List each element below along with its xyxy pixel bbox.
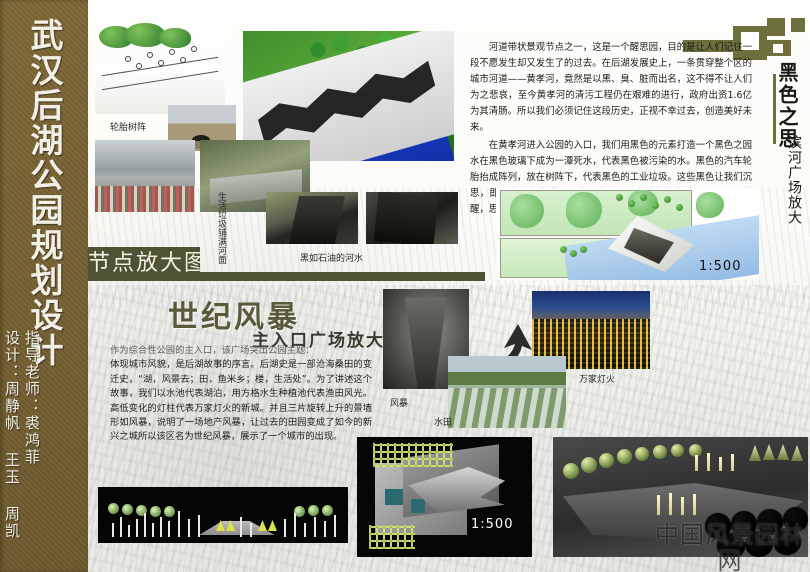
scale-label-riverside: 1:500 xyxy=(699,259,741,274)
night-elevation-rendering xyxy=(98,487,348,543)
poster-canvas: 武汉后湖公园规划设计 指导老师：裘鸿菲 设计：周静帆 王玉 周凯 轮胎树阵 xyxy=(0,0,810,572)
designer-credit: 设计：周静帆 王玉 周凯 xyxy=(2,330,23,540)
plaza-3d-plan-rendering xyxy=(357,437,532,557)
left-title-sidebar: 武汉后湖公园规划设计 指导老师：裘鸿菲 设计：周静帆 王玉 周凯 xyxy=(0,0,88,572)
riverside-plaza-subtitle: 滨河广场放大 xyxy=(784,135,804,225)
river-paragraph-1: 河道带状景观节点之一，这是一个醒思园，目的是让人们记住一段不愿发生却又发生了的过… xyxy=(470,40,752,136)
caption-city-lights: 万家灯火 xyxy=(579,372,615,385)
photo-rice-paddy xyxy=(448,356,566,428)
node-banner-rule xyxy=(200,272,485,281)
caption-oil-black-water: 黑如石油的河水 xyxy=(300,251,363,264)
tire-array-sketch xyxy=(95,22,225,114)
storm-body-first-line: 作为综合性公园的主入口，该广场突出公园主题： xyxy=(110,344,372,358)
advisor-credit: 指导老师：裘鸿菲 xyxy=(22,330,43,466)
caption-storm: 风暴 xyxy=(390,396,408,409)
node-enlargement-banner: 节点放大图 xyxy=(88,247,200,281)
scale-label-plaza: 1:500 xyxy=(471,517,513,532)
photo-black-rock-right xyxy=(366,192,458,244)
caption-paddy-field: 水田 xyxy=(434,415,452,428)
plaza-3d-perspective-rendering xyxy=(553,437,808,557)
caption-tire-array: 轮胎树阵 xyxy=(110,120,146,133)
poster-main-title: 武汉后湖公园规划设计 xyxy=(28,18,61,368)
caption-garbage-river: 生活垃圾铺满河面 xyxy=(215,192,228,264)
photo-black-rock-left xyxy=(266,192,358,244)
storm-body-text: 作为综合性公园的主入口，该广场突出公园主题： 体现城市风貌，是后湖故事的序言。后… xyxy=(110,344,372,445)
photo-river-garbage xyxy=(95,140,195,212)
storm-body-rest: 体现城市风貌，是后湖故事的序言。后湖史是一部沧海桑田的变迁史，“湖，风景去；田，… xyxy=(110,359,372,442)
